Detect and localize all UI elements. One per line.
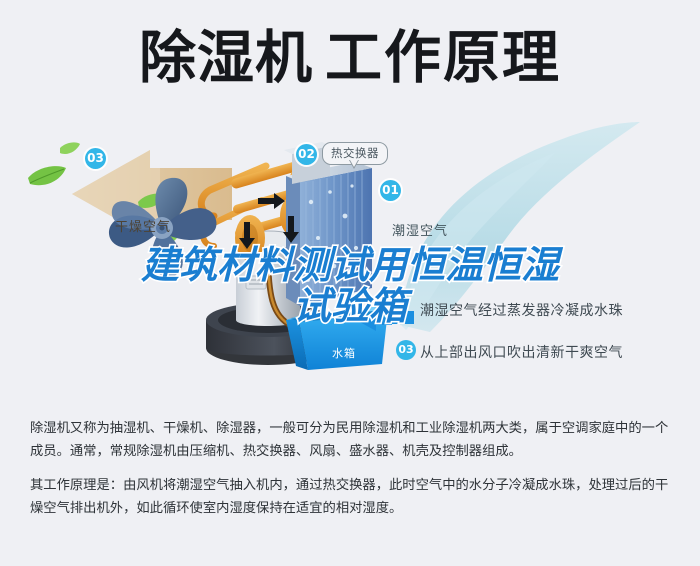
- page-title-part1: 除湿机: [139, 26, 313, 90]
- body-copy: 除湿机又称为抽湿机、干燥机、除湿器，一般可分为民用除湿机和工业除湿机两大类，属于…: [30, 418, 675, 520]
- caption-outlet-air: 从上部出风口吹出清新干爽空气: [420, 342, 623, 362]
- page-title: 除湿机工作原理: [0, 26, 700, 90]
- infographic-page: 除湿机工作原理: [0, 0, 700, 566]
- step-badge-03-dry-air: 03: [85, 148, 106, 169]
- label-water-tank: 水箱: [332, 345, 356, 361]
- step-badge-02-heat-exchanger: 02: [296, 144, 317, 165]
- caption-badge-03: 03: [396, 340, 416, 360]
- step-badge-01-humid-air: 01: [380, 180, 401, 201]
- caption-condensation: 潮湿空气经过蒸发器冷凝成水珠: [420, 300, 623, 320]
- page-title-part2: 工作原理: [325, 26, 561, 90]
- body-paragraph-1: 除湿机又称为抽湿机、干燥机、除湿器，一般可分为民用除湿机和工业除湿机两大类，属于…: [30, 418, 675, 463]
- bubble-pointer-icon: [349, 160, 359, 169]
- body-paragraph-2: 其工作原理是：由风机将潮湿空气抽入机内，通过热交换器，此时空气中的水分子冷凝成水…: [30, 475, 675, 520]
- dehumidifier-diagram: 03 干燥空气 02 热交换器 01 潮湿空气 水箱 潮湿空气经过蒸发器冷凝成水…: [0, 120, 700, 405]
- label-humid-air: 潮湿空气: [392, 220, 448, 239]
- label-dry-air: 干燥空气: [115, 216, 171, 235]
